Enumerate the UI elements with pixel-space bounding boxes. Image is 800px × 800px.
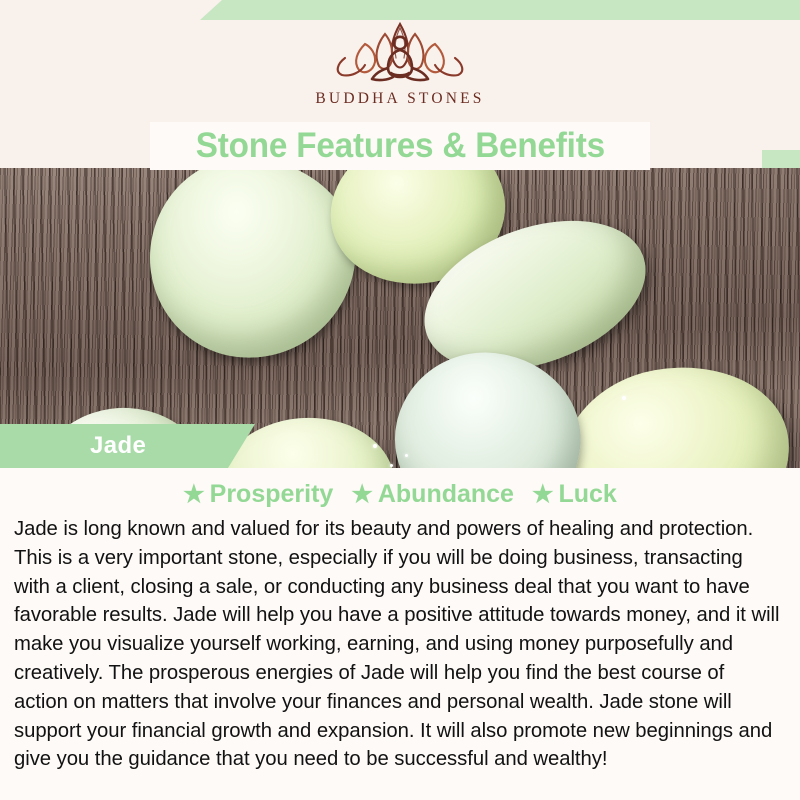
star-icon: ★ xyxy=(351,481,373,508)
page-title: Stone Features & Benefits xyxy=(195,126,604,166)
highlight-speck xyxy=(622,396,626,400)
benefit-label: Luck xyxy=(558,480,616,508)
lotus-meditation-icon xyxy=(315,18,485,86)
benefit-item-abundance: ★Abundance xyxy=(351,480,514,509)
title-banner: Stone Features & Benefits xyxy=(150,122,650,170)
brand-header: BUDDHA STONES xyxy=(0,0,800,122)
stone-photo xyxy=(0,168,800,468)
benefit-item-prosperity: ★Prosperity xyxy=(183,480,333,509)
highlight-speck xyxy=(405,454,408,457)
highlight-speck xyxy=(390,464,393,467)
benefit-label: Abundance xyxy=(378,480,514,508)
brand-name: BUDDHA STONES xyxy=(270,90,530,108)
star-icon: ★ xyxy=(532,481,554,508)
stone-name: Jade xyxy=(90,432,146,460)
highlight-speck xyxy=(373,444,377,448)
content-panel: ★Prosperity★Abundance★Luck Jade is long … xyxy=(0,468,800,800)
benefit-label: Prosperity xyxy=(210,480,334,508)
star-icon: ★ xyxy=(183,481,205,508)
benefits-row: ★Prosperity★Abundance★Luck xyxy=(14,468,786,509)
stone-name-band: Jade xyxy=(0,424,255,468)
stone-description: Jade is long known and valued for its be… xyxy=(14,515,782,774)
brand-logo: BUDDHA STONES xyxy=(270,18,530,108)
infographic-card: BUDDHA STONES Stone Features & Benefits … xyxy=(0,0,800,800)
benefit-item-luck: ★Luck xyxy=(532,480,617,509)
